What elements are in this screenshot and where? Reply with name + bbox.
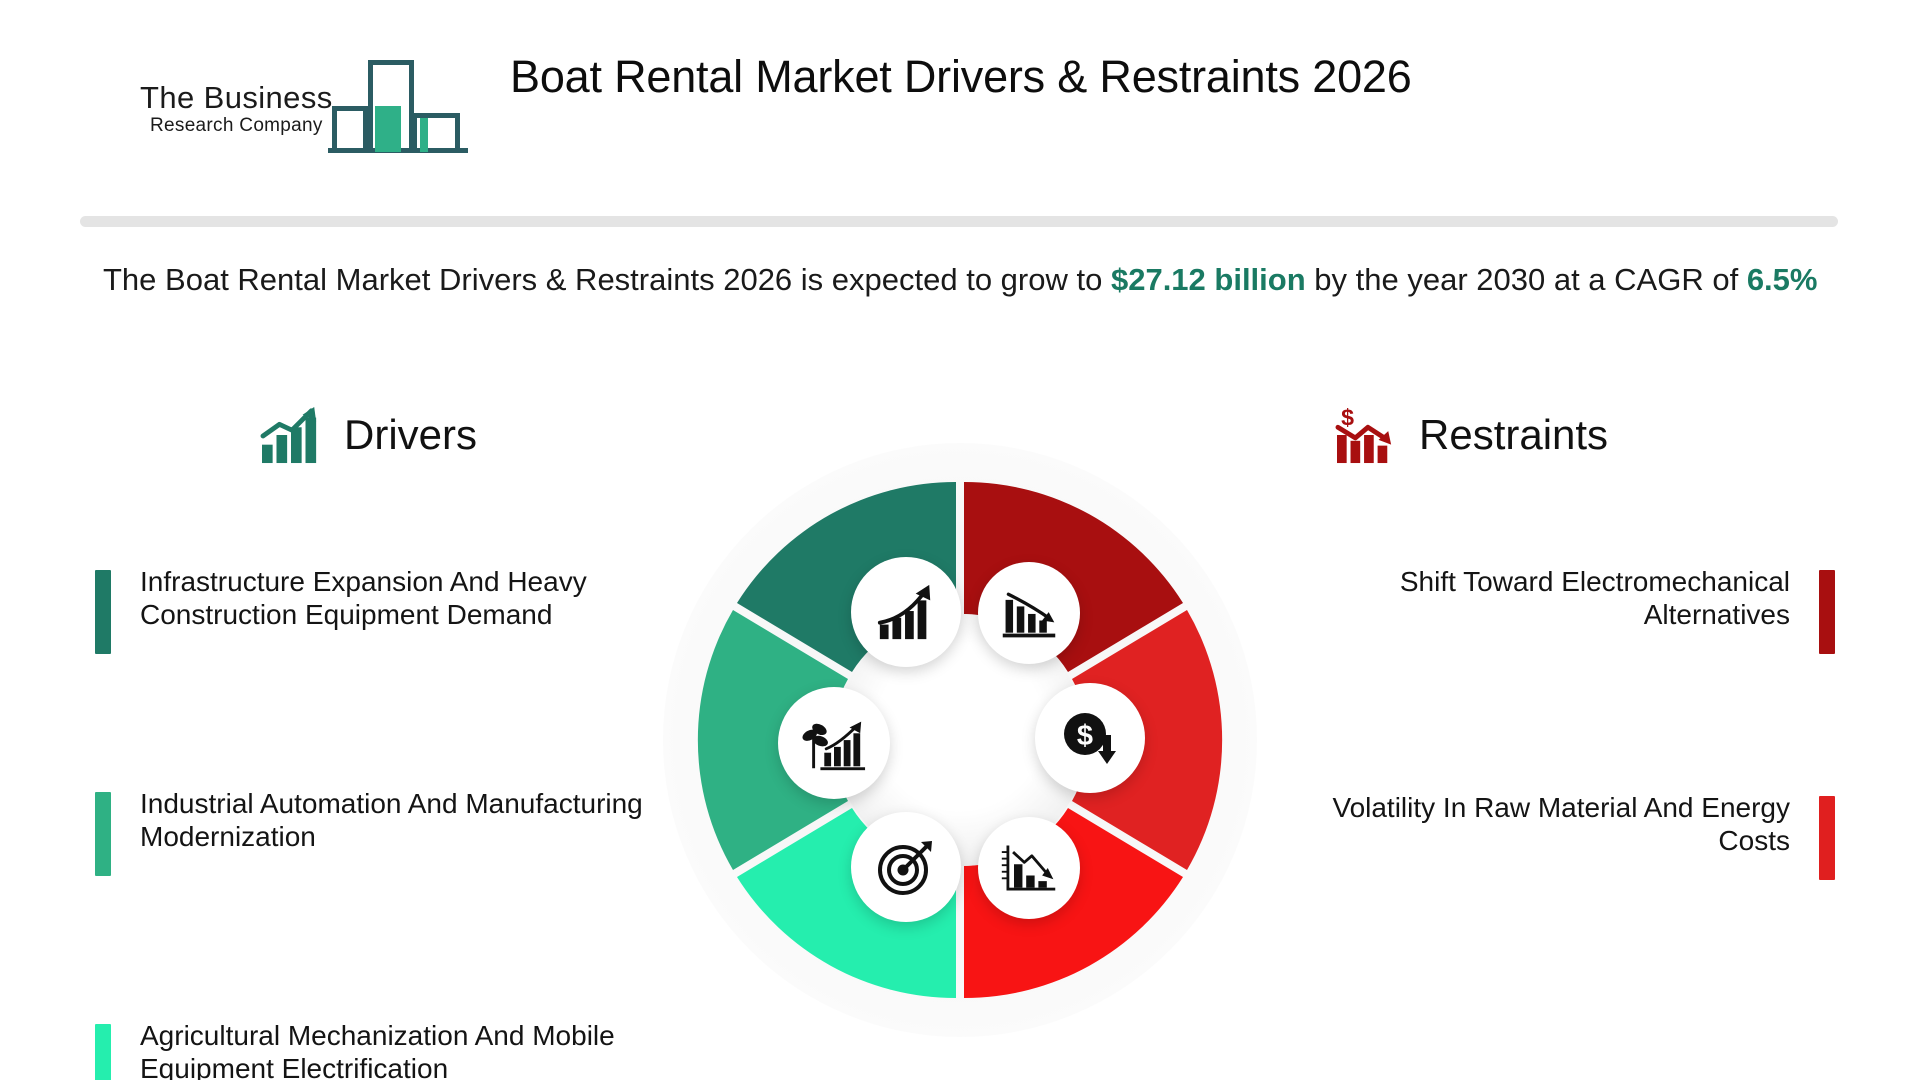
driver-item: Agricultural Mechanization And Mobile Eq… bbox=[95, 1020, 675, 1080]
logo-text: The Business Research Company bbox=[140, 82, 340, 137]
logo-line-2: Research Company bbox=[140, 115, 340, 138]
company-logo: The Business Research Company bbox=[140, 48, 470, 156]
growth-chart-arrow-badge bbox=[851, 557, 961, 667]
page-header: The Business Research Company Boat Renta… bbox=[0, 0, 1920, 196]
cagr-value: 6.5% bbox=[1747, 262, 1818, 297]
restraint-accent-bar bbox=[1819, 570, 1835, 654]
growth-chart-arrow-icon bbox=[875, 581, 937, 643]
declining-bar-chart-icon bbox=[999, 583, 1059, 643]
restraints-header: $ Restraints bbox=[1290, 400, 1835, 470]
falling-line-chart-badge bbox=[978, 817, 1080, 919]
header-divider bbox=[80, 216, 1838, 227]
svg-text:$: $ bbox=[1077, 720, 1093, 752]
falling-bar-chart-dollar-icon: $ bbox=[1335, 406, 1397, 464]
plant-growth-chart-badge bbox=[778, 687, 890, 799]
restraint-item: Shift Toward Electromechanical Alternati… bbox=[1290, 566, 1835, 658]
driver-accent-bar bbox=[95, 570, 111, 654]
drivers-restraints-wheel: $ bbox=[660, 440, 1260, 1040]
market-value: $27.12 billion bbox=[1111, 262, 1306, 297]
restraints-title: Restraints bbox=[1419, 414, 1608, 456]
restraints-column: $ Restraints Shift Toward Electromechani… bbox=[1290, 400, 1835, 932]
drivers-column: Drivers Infrastructure Expansion And Hea… bbox=[95, 400, 675, 1080]
restraint-item-label: Volatility In Raw Material And Energy Co… bbox=[1290, 792, 1819, 884]
falling-line-chart-icon bbox=[999, 838, 1059, 898]
restraint-item-label: Shift Toward Electromechanical Alternati… bbox=[1290, 566, 1819, 658]
dollar-down-arrow-badge: $ bbox=[1035, 683, 1145, 793]
svg-text:$: $ bbox=[1341, 406, 1354, 430]
intro-text-part-2: by the year 2030 at a CAGR of bbox=[1306, 262, 1747, 297]
bar-chart-logo-icon bbox=[328, 50, 468, 156]
rising-bar-chart-arrow-icon bbox=[260, 406, 322, 464]
page-title: Boat Rental Market Drivers & Restraints … bbox=[510, 52, 1530, 102]
declining-bar-chart-badge bbox=[978, 562, 1080, 664]
driver-item-label: Industrial Automation And Manufacturing … bbox=[111, 788, 675, 880]
intro-text-part-1: The Boat Rental Market Drivers & Restrai… bbox=[103, 262, 1111, 297]
driver-item: Industrial Automation And Manufacturing … bbox=[95, 788, 675, 880]
driver-item: Infrastructure Expansion And Heavy Const… bbox=[95, 566, 675, 658]
logo-line-1: The Business bbox=[140, 82, 340, 115]
restraint-accent-bar bbox=[1819, 796, 1835, 880]
target-bullseye-badge bbox=[851, 812, 961, 922]
dollar-down-arrow-icon: $ bbox=[1058, 706, 1122, 770]
driver-accent-bar bbox=[95, 792, 111, 876]
drivers-title: Drivers bbox=[344, 414, 477, 456]
target-bullseye-icon bbox=[874, 835, 938, 899]
driver-item-label: Agricultural Mechanization And Mobile Eq… bbox=[111, 1020, 675, 1080]
intro-paragraph: The Boat Rental Market Drivers & Restrai… bbox=[103, 258, 1843, 302]
driver-item-label: Infrastructure Expansion And Heavy Const… bbox=[111, 566, 675, 658]
drivers-header: Drivers bbox=[95, 400, 675, 470]
restraint-item: Volatility In Raw Material And Energy Co… bbox=[1290, 792, 1835, 884]
infographic-page: The Business Research Company Boat Renta… bbox=[0, 0, 1920, 1080]
driver-accent-bar bbox=[95, 1024, 111, 1080]
plant-growth-chart-icon bbox=[801, 710, 867, 776]
